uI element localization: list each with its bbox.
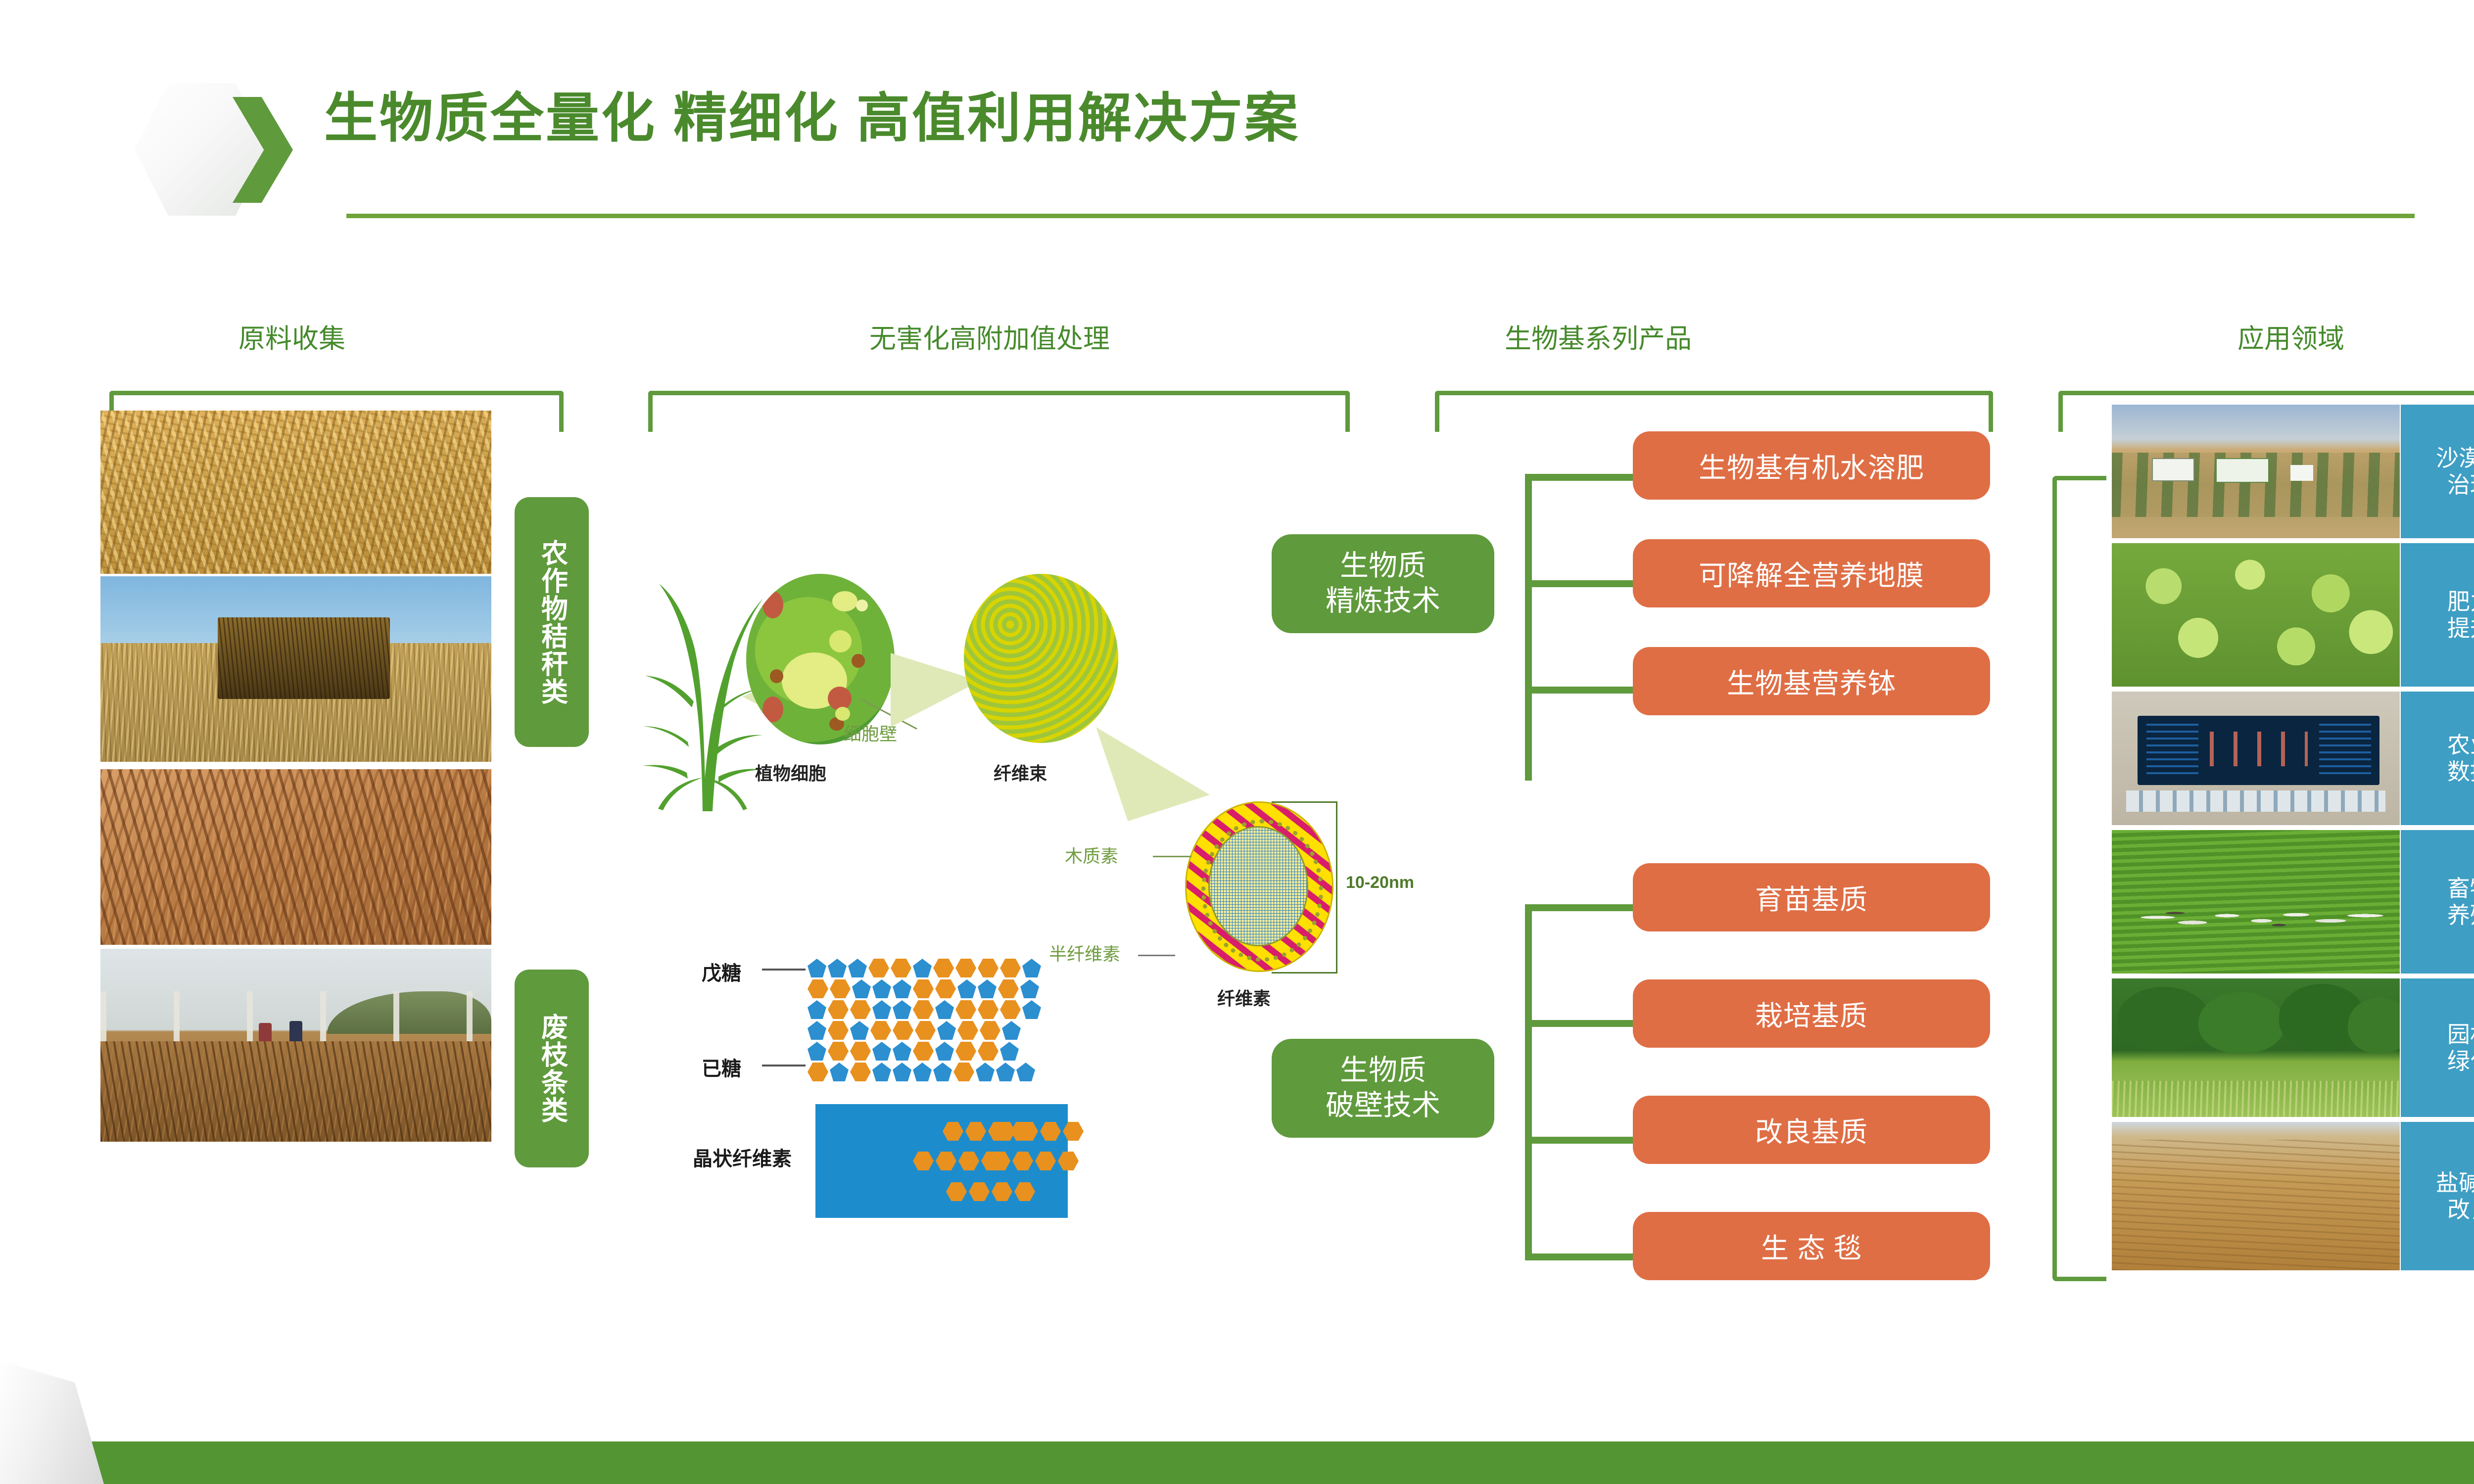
app-line-1: 肥力 [2447, 589, 2474, 614]
sugar-chain-row [808, 959, 1041, 977]
product-pill-degradable-mulch-film[interactable]: 可降解全营养地膜 [1633, 539, 1990, 607]
bracket-products [1435, 391, 1993, 432]
page-title: 生物质全量化 精细化 高值利用解决方案 [324, 92, 1300, 145]
app-line-1: 农业 [2447, 732, 2474, 758]
cellulose-chain-row [946, 1182, 1035, 1201]
organelle [829, 630, 852, 652]
sugar-chain-row [808, 1063, 1035, 1081]
organelle [777, 623, 814, 650]
label-hemicellulose: 半纤维素 [1049, 940, 1120, 966]
plant-cell-illustration [746, 574, 895, 744]
product-pill-seedling-substrate[interactable]: 育苗基质 [1633, 863, 1990, 931]
dimension-line [1336, 801, 1337, 974]
cellulose-core [1208, 826, 1308, 946]
app-line-2: 数据 [2447, 759, 2474, 785]
application-label-saline-alkali-improvement[interactable]: 盐碱地 改良 [2401, 1122, 2474, 1270]
tech-line-2: 破壁技术 [1326, 1088, 1440, 1123]
section-header-products: 生物基系列产品 [1425, 317, 1771, 356]
organelle [835, 707, 850, 721]
photo-orchard-pruning-collection [100, 949, 491, 1142]
fiber-bundle-illustration [964, 574, 1118, 743]
hemicellulose-leader-line [1138, 955, 1175, 956]
app-line-2: 养殖 [2447, 902, 2474, 928]
organelle [832, 591, 857, 611]
application-label-agriculture-data[interactable]: 农业 数据 [2401, 692, 2474, 825]
label-crystalline-cellulose: 晶状纤维素 [693, 1143, 792, 1171]
feedstock-pill-crop-straw[interactable]: 农作物秸秆类 [515, 497, 589, 747]
magnify-beam-3 [1096, 727, 1210, 821]
application-label-landscape-greening[interactable]: 园林 绿化 [2401, 978, 2474, 1117]
product-pill-water-soluble-fertilizer[interactable]: 生物基有机水溶肥 [1633, 431, 1990, 500]
label-fiber-bundle: 纤维束 [994, 759, 1047, 785]
sugar-chain-row [808, 1000, 1041, 1019]
granule [852, 654, 865, 668]
bracket-to-applications [2052, 476, 2106, 1281]
cellulose-chain-row [913, 1152, 1002, 1170]
footer-band [0, 1441, 2474, 1484]
dimension-tick-bottom [1272, 972, 1337, 974]
tech-line-2: 精炼技术 [1326, 584, 1440, 619]
photo-desert-control [2112, 405, 2400, 538]
mitochondrion [762, 696, 783, 722]
dimension-tick-top [1272, 801, 1337, 803]
arrow-trunk-wallbreaking [1525, 904, 1532, 1260]
slide-root: 生物质全量化 精细化 高值利用解决方案 原料收集 无害化高附加值处理 生物基系列… [0, 0, 2474, 1484]
straw-bale [218, 617, 390, 699]
sugar-chain-row [808, 1042, 1019, 1061]
app-line-2: 提升 [2447, 615, 2474, 641]
photo-corn-straw-field [100, 411, 491, 574]
mitochondrion [762, 591, 783, 618]
section-header-applications: 应用领域 [2157, 317, 2425, 356]
organelle [856, 600, 868, 611]
label-pentose: 戊糖 [702, 957, 741, 986]
section-header-feedstock: 原料收集 [188, 317, 396, 356]
section-header-processing: 无害化高附加值处理 [772, 317, 1207, 356]
label-lignin: 木质素 [1065, 842, 1118, 868]
product-pill-improvement-substrate[interactable]: 改良基质 [1633, 1096, 1990, 1164]
footer-wedge-decoration [0, 1360, 104, 1484]
tech-box-biomass-refining[interactable]: 生物质 精炼技术 [1272, 534, 1494, 633]
tech-line-1: 生物质 [1340, 549, 1426, 584]
mitochondrion [828, 687, 852, 710]
label-hexose: 已糖 [702, 1053, 741, 1081]
feedstock-pill-waste-branch[interactable]: 废枝条类 [515, 970, 589, 1167]
app-line-1: 盐碱地 [2436, 1170, 2474, 1196]
photo-straw-bale-field [100, 576, 491, 762]
sugar-chain-row [808, 979, 1039, 998]
granule [770, 669, 783, 683]
label-cell-wall: 细胞壁 [844, 720, 897, 745]
label-fiber-diameter: 10-20nm [1346, 873, 1414, 892]
hexose-leader-line [762, 1065, 806, 1067]
photo-sheep-grazing [2112, 830, 2400, 974]
photo-saline-alkali-land [2112, 1122, 2400, 1270]
cellulose-chain-row [990, 1152, 1079, 1170]
product-pill-ecological-blanket[interactable]: 生 态 毯 [1633, 1212, 1990, 1280]
cut-branches-pile [100, 1041, 491, 1142]
app-line-1: 沙漠化 [2436, 445, 2474, 471]
photo-data-control-room [2112, 692, 2400, 825]
bracket-processing [648, 391, 1350, 432]
arrow-trunk-refining [1525, 474, 1532, 781]
app-line-2: 治理 [2447, 472, 2474, 498]
app-line-2: 改良 [2447, 1197, 2474, 1222]
tech-line-1: 生物质 [1340, 1053, 1426, 1088]
app-line-1: 园林 [2447, 1021, 2474, 1047]
app-line-2: 绿化 [2447, 1048, 2474, 1074]
photo-park-greening [2112, 978, 2400, 1117]
cellulose-chain-row [995, 1122, 1084, 1141]
app-line-1: 畜牧 [2447, 876, 2474, 901]
lignin-leader-line [1153, 856, 1191, 857]
tech-box-biomass-wallbreaking[interactable]: 生物质 破壁技术 [1272, 1039, 1494, 1138]
application-label-fertility-improvement[interactable]: 肥力 提升 [2401, 543, 2474, 687]
title-underline [346, 214, 2415, 218]
sugar-chain-row [808, 1021, 1021, 1040]
photo-pruned-branches [100, 769, 491, 945]
application-label-desert-control[interactable]: 沙漠化 治理 [2401, 405, 2474, 538]
application-label-livestock-breeding[interactable]: 畜牧 养殖 [2401, 830, 2474, 974]
label-cellulose: 纤维素 [1217, 984, 1271, 1010]
photo-cabbage-field [2112, 543, 2400, 687]
label-plant-cell: 植物细胞 [755, 759, 826, 785]
product-pill-cultivation-substrate[interactable]: 栽培基质 [1633, 979, 1990, 1048]
product-pill-nutrient-pot[interactable]: 生物基营养钵 [1633, 647, 1990, 715]
pentose-leader-line [762, 969, 806, 971]
